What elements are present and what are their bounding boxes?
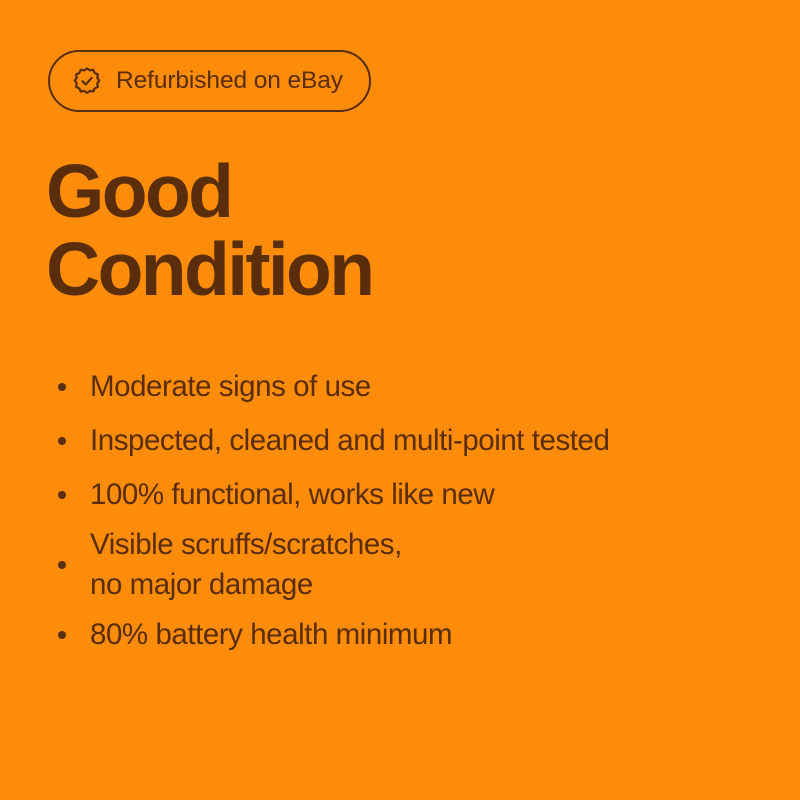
page-title: Good Condition	[46, 152, 372, 308]
list-item-label: 100% functional, works like new	[90, 475, 494, 515]
list-item: 80% battery health minimum	[48, 608, 768, 662]
refurbished-badge[interactable]: Refurbished on eBay	[48, 50, 371, 112]
list-item-label: Inspected, cleaned and multi-point teste…	[90, 421, 609, 461]
refurbished-condition-card: Refurbished on eBay Good Condition Moder…	[0, 0, 800, 800]
refurbished-badge-label: Refurbished on eBay	[116, 69, 343, 94]
condition-feature-list: Moderate signs of use Inspected, cleaned…	[48, 360, 768, 662]
bullet-dot-icon	[58, 631, 66, 639]
list-item-label: Moderate signs of use	[90, 367, 371, 407]
list-item: 100% functional, works like new	[48, 468, 768, 522]
list-item: Moderate signs of use	[48, 360, 768, 414]
list-item-label: 80% battery health minimum	[90, 615, 452, 655]
bullet-dot-icon	[58, 437, 66, 445]
bullet-dot-icon	[58, 383, 66, 391]
verified-check-rosette-icon	[72, 66, 102, 96]
list-item: Inspected, cleaned and multi-point teste…	[48, 414, 768, 468]
bullet-dot-icon	[58, 491, 66, 499]
list-item: Visible scruffs/scratches, no major dama…	[48, 522, 768, 608]
list-item-label: Visible scruffs/scratches, no major dama…	[90, 525, 402, 605]
bullet-dot-icon	[58, 561, 66, 569]
